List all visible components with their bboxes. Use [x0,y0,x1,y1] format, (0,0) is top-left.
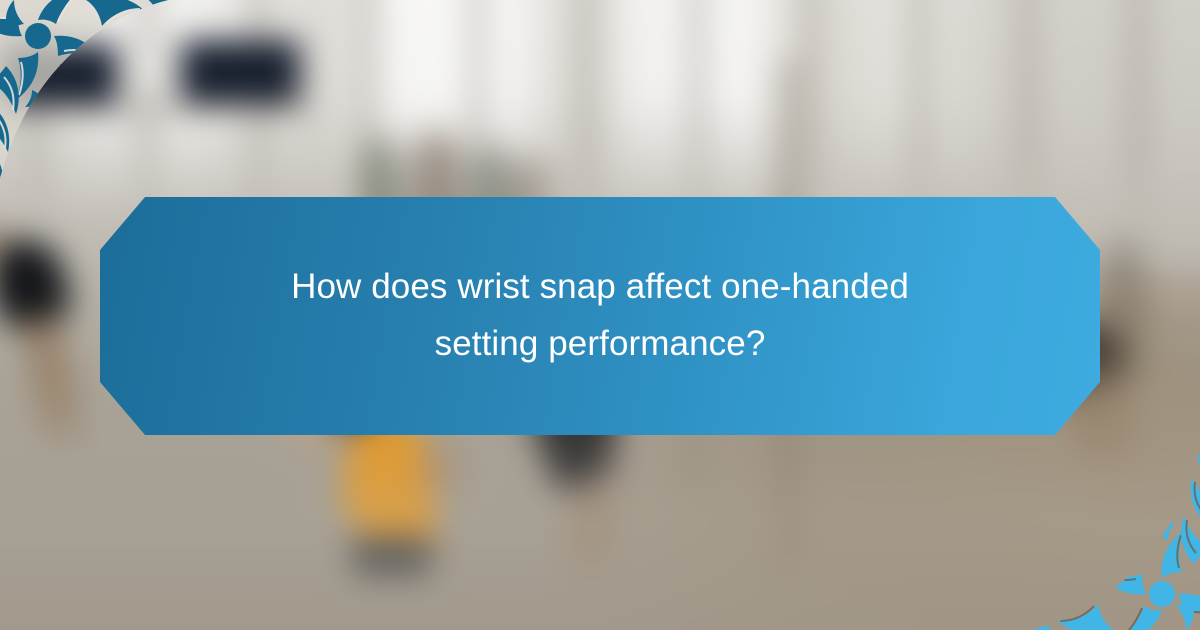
title-banner: How does wrist snap affect one-handed se… [100,197,1100,435]
poster-canvas: How does wrist snap affect one-handed se… [0,0,1200,630]
page-title: How does wrist snap affect one-handed se… [250,259,950,372]
